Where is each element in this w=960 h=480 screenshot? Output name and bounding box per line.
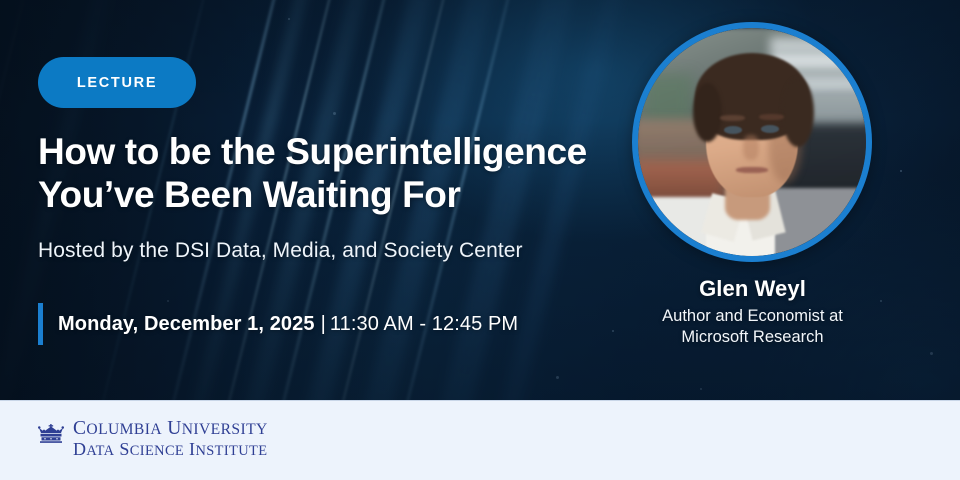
logo-line-2: DATA SCIENCE INSTITUTE xyxy=(73,440,268,459)
event-host-subtitle: Hosted by the DSI Data, Media, and Socie… xyxy=(38,239,523,263)
speaker-role-line-2: Microsoft Research xyxy=(620,327,885,348)
speaker-role-line-1: Author and Economist at xyxy=(620,306,885,327)
event-date: Monday, December 1, 2025 xyxy=(58,313,315,335)
lecture-badge: LECTURE xyxy=(38,57,196,108)
logo-line-1: COLUMBIA UNIVERSITY xyxy=(73,419,268,440)
columbia-dsi-logo: COLUMBIA UNIVERSITY DATA SCIENCE INSTITU… xyxy=(38,419,268,459)
page-title: How to be the Superintelligence You’ve B… xyxy=(38,131,608,217)
speaker-portrait xyxy=(632,22,872,262)
hero-content: LECTURE How to be the Superintelligence … xyxy=(38,0,618,400)
speaker-name: Glen Weyl xyxy=(620,276,885,302)
logo-wordmark: COLUMBIA UNIVERSITY DATA SCIENCE INSTITU… xyxy=(73,419,268,459)
datetime-separator: | xyxy=(315,313,330,335)
footer-bar: COLUMBIA UNIVERSITY DATA SCIENCE INSTITU… xyxy=(0,400,960,480)
event-time: 11:30 AM - 12:45 PM xyxy=(330,313,518,335)
datetime-text: Monday, December 1, 2025|11:30 AM - 12:4… xyxy=(58,313,518,336)
speaker-role: Author and Economist at Microsoft Resear… xyxy=(620,306,885,348)
title-line-2: You’ve Been Waiting For xyxy=(38,174,608,217)
speaker-info: Glen Weyl Author and Economist at Micros… xyxy=(620,276,885,348)
event-banner: LECTURE How to be the Superintelligence … xyxy=(0,0,960,480)
crown-icon xyxy=(38,424,64,446)
event-datetime: Monday, December 1, 2025|11:30 AM - 12:4… xyxy=(38,303,518,345)
title-line-1: How to be the Superintelligence xyxy=(38,131,608,174)
portrait-image xyxy=(638,28,866,256)
accent-bar xyxy=(38,303,43,345)
